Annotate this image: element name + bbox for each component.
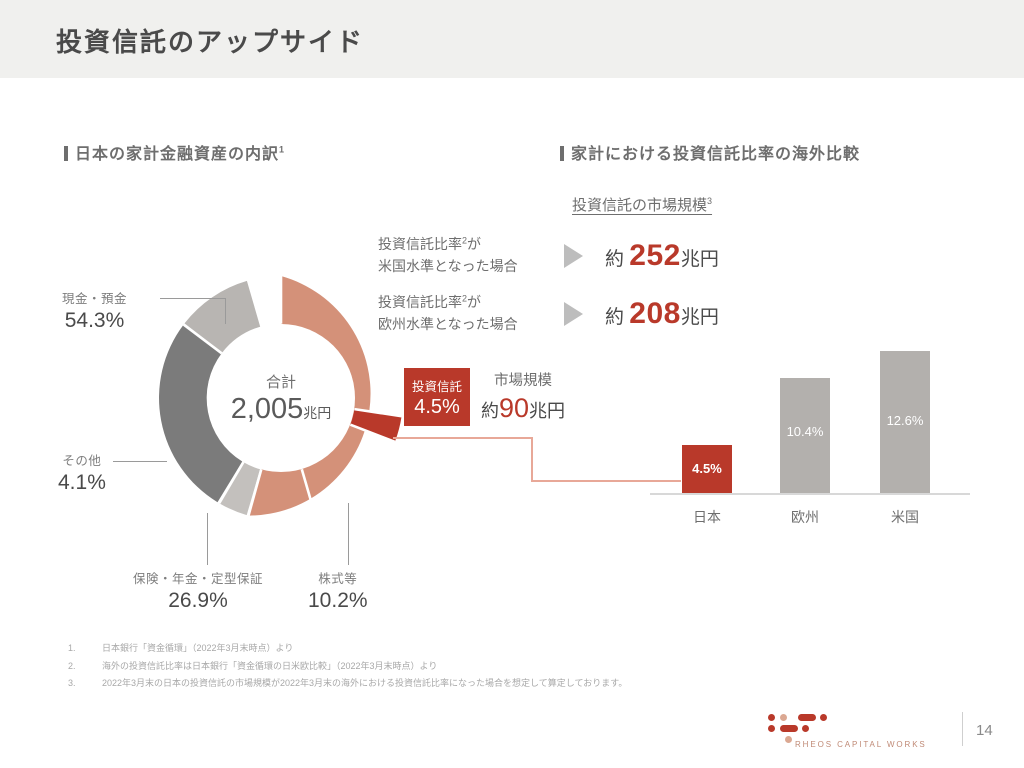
donut-label-other-name: その他 bbox=[58, 450, 106, 469]
company-logo: RHEOS CAPITAL WORKS bbox=[768, 714, 943, 754]
donut-label-cash: 現金・預金 54.3% bbox=[62, 288, 127, 333]
section-heading-right: 家計における投資信託比率の海外比較 bbox=[560, 140, 860, 164]
footnote-row: 3. 2022年3月末の日本の投資信託の市場規模が2022年3月末の海外における… bbox=[68, 675, 627, 693]
donut-label-stock: 株式等 10.2% bbox=[308, 568, 368, 613]
footnote-text: 海外の投資信託比率は日本銀行「資金循環の日米欧比較」（2022年3月末時点）より bbox=[102, 658, 437, 676]
donut-chart: 合計 2,005兆円 bbox=[155, 272, 407, 524]
scenario-us-value: 約 252兆円 bbox=[605, 239, 719, 273]
page-title: 投資信託のアップサイド bbox=[56, 22, 364, 59]
leader-line-insurance bbox=[207, 513, 208, 565]
donut-label-insurance-name: 保険・年金・定型保証 bbox=[133, 568, 263, 587]
investment-trust-callout-name: 投資信託 bbox=[412, 376, 462, 395]
scenario-us-line1: 投資信託比率 bbox=[378, 236, 462, 252]
bar-rect-us: 12.6% bbox=[880, 351, 930, 493]
footnote-number: 3. bbox=[68, 675, 102, 693]
triangle-right-icon bbox=[564, 244, 583, 268]
footnote-number: 2. bbox=[68, 658, 102, 676]
logo-dot-icon bbox=[802, 725, 809, 732]
logo-dot-icon bbox=[768, 714, 775, 721]
scenario-eu-number: 208 bbox=[629, 297, 681, 330]
bar-rect-japan: 4.5% bbox=[682, 445, 732, 493]
comparison-bar-chart: 4.5% 日本 10.4% 欧州 12.6% 米国 bbox=[650, 350, 970, 550]
footnote-text: 2022年3月末の日本の投資信託の市場規模が2022年3月末の海外における投資信… bbox=[102, 675, 627, 693]
bar-value-us: 12.6% bbox=[880, 413, 930, 428]
investment-trust-callout: 投資信託 4.5% bbox=[404, 368, 470, 426]
leader-line-other bbox=[113, 461, 167, 462]
logo-dot-icon bbox=[820, 714, 827, 721]
market-size-number: 90 bbox=[499, 393, 529, 423]
scenario-us-unit: 兆円 bbox=[681, 249, 719, 270]
triangle-right-icon bbox=[564, 302, 583, 326]
section-heading-left-label: 日本の家計金融資産の内訳 bbox=[75, 146, 279, 163]
heading-bar-icon bbox=[560, 146, 564, 161]
scenario-eu-line2: 欧州水準となった場合 bbox=[378, 316, 518, 332]
footnote-row: 1. 日本銀行「資金循環」（2022年3月末時点）より bbox=[68, 640, 627, 658]
logo-dot-icon bbox=[785, 736, 792, 743]
market-size-subheading-sup: 3 bbox=[707, 196, 712, 206]
company-logo-text: RHEOS CAPITAL WORKS bbox=[795, 740, 927, 749]
market-size-subheading: 投資信託の市場規模3 bbox=[572, 194, 712, 215]
donut-total-label: 合計 bbox=[266, 371, 296, 392]
donut-label-cash-pct: 54.3% bbox=[62, 309, 127, 333]
bar-rect-europe: 10.4% bbox=[780, 378, 830, 493]
scenario-us: 投資信託比率2が 米国水準となった場合 約 252兆円 bbox=[378, 234, 719, 277]
logo-bar-icon bbox=[780, 725, 798, 732]
donut-label-other: その他 4.1% bbox=[58, 450, 106, 495]
scenario-eu-unit: 兆円 bbox=[681, 307, 719, 328]
donut-total-unit: 兆円 bbox=[303, 405, 331, 421]
scenario-us-tail: が bbox=[467, 236, 481, 252]
bar-chart-baseline bbox=[650, 493, 970, 495]
logo-dot-icon bbox=[780, 714, 787, 721]
scenario-us-line2: 米国水準となった場合 bbox=[378, 258, 518, 274]
section-heading-right-label: 家計における投資信託比率の海外比較 bbox=[571, 146, 860, 163]
footnote-row: 2. 海外の投資信託比率は日本銀行「資金循環の日米欧比較」（2022年3月末時点… bbox=[68, 658, 627, 676]
donut-label-insurance-pct: 26.9% bbox=[133, 589, 263, 613]
market-size-unit: 兆円 bbox=[529, 401, 565, 421]
market-size-prefix: 約 bbox=[481, 401, 499, 421]
donut-label-stock-name: 株式等 bbox=[308, 568, 368, 587]
donut-label-insurance: 保険・年金・定型保証 26.9% bbox=[133, 568, 263, 613]
heading-bar-icon bbox=[64, 146, 68, 161]
logo-dot-icon bbox=[768, 725, 775, 732]
market-size-subheading-label: 投資信託の市場規模 bbox=[572, 197, 707, 214]
scenario-us-prefix: 約 bbox=[605, 249, 624, 270]
footnote-number: 1. bbox=[68, 640, 102, 658]
scenario-eu-text: 投資信託比率2が 欧州水準となった場合 bbox=[378, 292, 558, 335]
bar-label-japan: 日本 bbox=[676, 507, 738, 527]
footer-divider bbox=[962, 712, 963, 746]
slide: 投資信託のアップサイド 日本の家計金融資産の内訳1 家計における投資信託比率の海… bbox=[0, 0, 1024, 768]
scenario-eu-value: 約 208兆円 bbox=[605, 297, 719, 331]
market-size-value: 約90兆円 bbox=[481, 393, 565, 424]
scenario-eu-line1: 投資信託比率 bbox=[378, 294, 462, 310]
bar-value-japan: 4.5% bbox=[682, 461, 732, 476]
bar-value-europe: 10.4% bbox=[780, 424, 830, 439]
scenario-us-text: 投資信託比率2が 米国水準となった場合 bbox=[378, 234, 558, 277]
bar-label-us: 米国 bbox=[874, 507, 936, 527]
footnote-text: 日本銀行「資金循環」（2022年3月末時点）より bbox=[102, 640, 293, 658]
donut-total-value: 2,005兆円 bbox=[231, 393, 332, 426]
market-size-label: 市場規模 bbox=[481, 369, 565, 390]
logo-bar-icon bbox=[798, 714, 816, 721]
connector-segment-2 bbox=[531, 437, 533, 481]
leader-line-cash-v bbox=[225, 298, 226, 324]
donut-total-number: 2,005 bbox=[231, 393, 304, 425]
donut-label-cash-name: 現金・預金 bbox=[62, 288, 127, 307]
donut-label-stock-pct: 10.2% bbox=[308, 589, 368, 613]
scenario-eu: 投資信託比率2が 欧州水準となった場合 約 208兆円 bbox=[378, 292, 719, 335]
leader-line-cash bbox=[160, 298, 226, 299]
scenario-eu-tail: が bbox=[467, 294, 481, 310]
donut-center-label: 合計 2,005兆円 bbox=[207, 324, 355, 472]
page-number: 14 bbox=[976, 722, 993, 739]
investment-trust-callout-pct: 4.5% bbox=[414, 396, 460, 419]
leader-line-stock bbox=[348, 503, 349, 565]
connector-segment-1 bbox=[393, 437, 533, 439]
bar-label-europe: 欧州 bbox=[774, 507, 836, 527]
footnotes: 1. 日本銀行「資金循環」（2022年3月末時点）より 2. 海外の投資信託比率… bbox=[68, 640, 627, 693]
section-heading-left-sup: 1 bbox=[279, 145, 285, 155]
scenario-eu-prefix: 約 bbox=[605, 307, 624, 328]
section-heading-left: 日本の家計金融資産の内訳1 bbox=[64, 140, 285, 164]
scenario-us-number: 252 bbox=[629, 239, 681, 272]
market-size-callout: 市場規模 約90兆円 bbox=[481, 369, 565, 424]
donut-label-other-pct: 4.1% bbox=[58, 471, 106, 495]
